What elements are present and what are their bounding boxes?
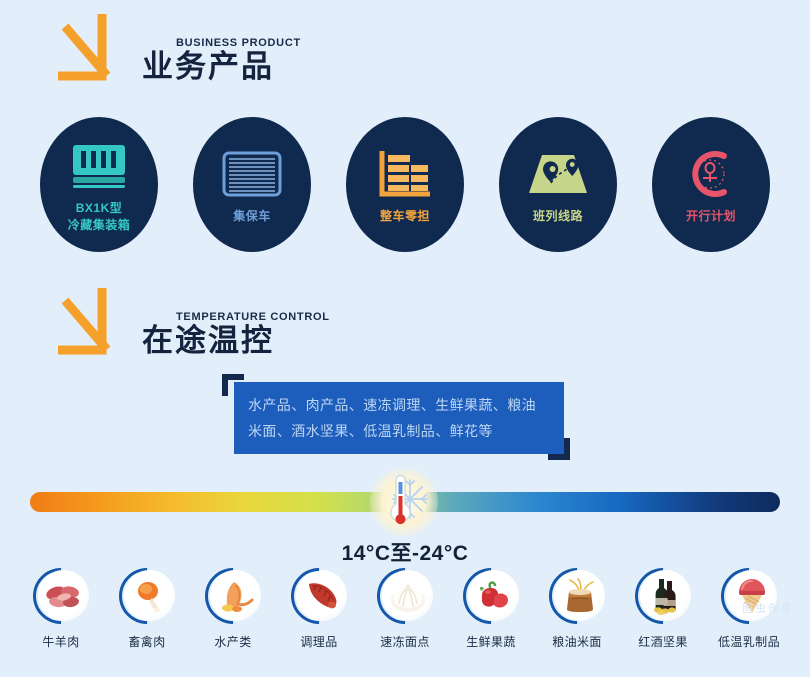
food-category-fresh-produce[interactable]: 生鲜果蔬 [448,568,534,650]
product-circle-full-truck-load[interactable]: 整车零担 [346,117,464,252]
food-category-label: 牛羊肉 [42,633,79,650]
fresh-produce-icon [463,568,519,624]
product-label: 整车零担 [380,208,430,224]
food-category-label: 粮油米面 [552,633,602,650]
section-cn-title: 在途温控 [142,325,330,358]
section-cn-title: 业务产品 [142,51,301,84]
product-circle-train-route[interactable]: 班列线路 [499,117,617,252]
food-category-poultry[interactable]: 畜禽肉 [104,568,190,650]
food-category-prepared[interactable]: 调理品 [276,568,362,650]
food-category-label: 生鲜果蔬 [466,633,516,650]
product-circle-refrigerated-container[interactable]: BX1K型 冷藏集装箱 [40,117,158,252]
sausage-icon [291,568,347,624]
food-category-frozen-pastry[interactable]: 速冻面点 [362,568,448,650]
food-category-label: 畜禽肉 [128,633,165,650]
wine-nuts-icon [635,568,691,624]
corner-bracket-bottom-right [548,438,570,460]
poster-page: BUSINESS PRODUCT 业务产品 BX1K型 冷藏集装箱 [0,0,810,677]
insulated-wagon-icon [221,144,283,204]
product-circle-insulated-wagon[interactable]: 集保车 [193,117,311,252]
food-category-grain-oil[interactable]: 粮油米面 [534,568,620,650]
food-category-beef-mutton[interactable]: 牛羊肉 [18,568,104,650]
section-header-temperature-control: TEMPERATURE CONTROL 在途温控 [58,288,330,360]
product-label: BX1K型 冷藏集装箱 [68,200,131,232]
food-category-label: 速冻面点 [380,633,430,650]
food-category-label: 调理品 [300,633,337,650]
grain-sack-icon [549,568,605,624]
food-category-label: 低温乳制品 [718,633,780,650]
bar-chart-icon [376,144,434,204]
railway-logo-icon [684,144,738,204]
seafood-icon [205,568,261,624]
food-category-list: 牛羊肉 畜禽肉 [18,568,792,650]
food-category-seafood[interactable]: 水产类 [190,568,276,650]
food-category-label: 水产类 [214,633,251,650]
temperature-range-label: 14°C至-24°C [0,537,810,567]
thermometer-snowflake-icon [370,468,438,536]
beef-mutton-icon [33,568,89,624]
section-en-title: BUSINESS PRODUCT [176,37,301,49]
food-category-label: 红酒坚果 [638,633,688,650]
poultry-icon [119,568,175,624]
route-map-icon [527,144,589,204]
cargo-category-panel: 水产品、肉产品、速冻调理、生鲜果蔬、粮油米面、酒水坚果、低温乳制品、鲜花等 [222,374,570,460]
refrigerated-container-icon [69,136,129,196]
section-header-business-product: BUSINESS PRODUCT 业务产品 [58,14,301,86]
cargo-category-text: 水产品、肉产品、速冻调理、生鲜果蔬、粮油米面、酒水坚果、低温乳制品、鲜花等 [248,392,550,444]
down-right-arrow-icon [58,14,136,86]
product-label: 班列线路 [533,208,583,224]
product-label: 开行计划 [686,208,736,224]
cargo-category-box: 水产品、肉产品、速冻调理、生鲜果蔬、粮油米面、酒水坚果、低温乳制品、鲜花等 [234,382,564,454]
product-label: 集保车 [233,208,271,224]
product-circle-operation-plan[interactable]: 开行计划 [652,117,770,252]
frozen-bun-icon [377,568,433,624]
down-right-arrow-icon [58,288,136,360]
section-en-title: TEMPERATURE CONTROL [176,311,330,323]
product-circle-list: BX1K型 冷藏集装箱 [40,117,770,252]
food-category-wine-nuts[interactable]: 红酒坚果 [620,568,706,650]
watermark: 图虫创意 [742,600,794,616]
